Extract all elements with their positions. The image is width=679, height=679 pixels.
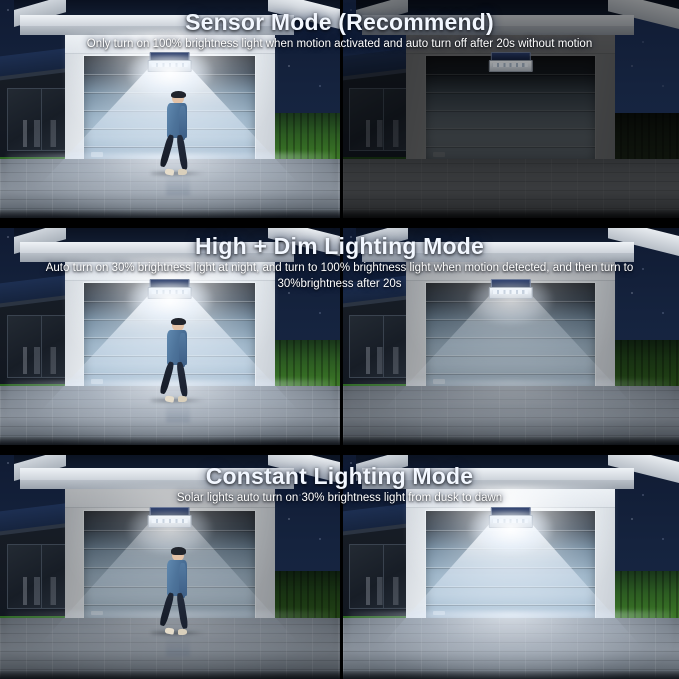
solar-light-fixture [149, 279, 190, 299]
roof-soffit [362, 253, 633, 262]
roof-overhang [14, 227, 340, 262]
person-back-shoe [165, 168, 174, 175]
garage-door-handle [91, 152, 103, 156]
led-array-icon [152, 63, 187, 67]
driveway [343, 386, 679, 445]
roof-soffit [20, 253, 294, 262]
person-hair [171, 91, 186, 98]
person-back-shoe [165, 627, 174, 634]
solar-panel-icon [149, 279, 190, 287]
person-reflection [166, 401, 190, 423]
roof-overhang [14, 0, 340, 35]
row-divider [0, 218, 679, 228]
scene-sensor-off [340, 0, 679, 218]
garage-door-handle [433, 379, 445, 383]
led-housing [489, 60, 533, 72]
driveway-edge [0, 437, 340, 445]
led-array-icon [152, 519, 187, 523]
person-hair [171, 318, 186, 325]
led-array-icon [493, 290, 528, 294]
solar-panel-icon [491, 279, 531, 287]
mode-section-sensor: Sensor Mode (Recommend) Only turn on 100… [0, 0, 679, 218]
garage-door-handle [91, 379, 103, 383]
scene-constant-empty [340, 453, 679, 679]
driveway-edge [0, 671, 340, 679]
led-array-icon [493, 519, 528, 523]
solar-light-fixture [149, 507, 190, 527]
roof-soffit [362, 26, 633, 35]
roof-overhang [356, 0, 679, 35]
paver-pattern [343, 618, 679, 679]
roof-soffit [362, 480, 633, 489]
roof-fascia [20, 468, 294, 480]
roof-soffit [20, 26, 294, 35]
scene-dim-standby [340, 227, 679, 445]
mode-section-high-dim: High + Dim Lighting Mode Auto turn on 30… [0, 227, 679, 445]
led-housing [148, 60, 192, 72]
roof-soffit [20, 480, 294, 489]
solar-panel-icon [491, 52, 531, 60]
solar-light-fixture [491, 507, 531, 527]
roof-overhang [14, 453, 340, 489]
walking-person [163, 548, 194, 634]
driveway-edge [343, 437, 679, 445]
paver-pattern [343, 386, 679, 445]
solar-light-fixture [491, 52, 531, 72]
roof-fascia [362, 15, 633, 27]
solar-panel-icon [149, 52, 190, 60]
roof-fascia [362, 468, 633, 480]
infographic-board: Sensor Mode (Recommend) Only turn on 100… [0, 0, 679, 679]
row-divider [0, 445, 679, 455]
roof-fascia [20, 15, 294, 27]
led-housing [489, 287, 533, 299]
led-housing [148, 515, 192, 528]
person-hair [171, 547, 186, 555]
solar-light-fixture [491, 279, 531, 299]
driveway [343, 159, 679, 218]
scene-high-on [0, 227, 340, 445]
mode-section-constant: Constant Lighting Mode Solar lights auto… [0, 453, 679, 679]
roof-overhang [356, 453, 679, 489]
person-reflection [166, 634, 190, 656]
led-housing [489, 515, 533, 528]
garage-door-handle [91, 611, 103, 615]
roof-fascia [362, 242, 633, 254]
led-array-icon [493, 63, 528, 67]
scene-pair [0, 227, 679, 445]
garage-door-handle [433, 152, 445, 156]
garage-facade [406, 485, 615, 625]
scene-constant-with-person [0, 453, 340, 679]
scene-pair [0, 0, 679, 218]
garage-facade [406, 31, 615, 166]
scene-pair [0, 453, 679, 679]
scene-sensor-on [0, 0, 340, 218]
walking-person [163, 92, 194, 175]
person-reflection [166, 174, 190, 196]
solar-light-fixture [149, 52, 190, 72]
roof-fascia [20, 242, 294, 254]
person-front-leg [176, 361, 189, 396]
person-front-leg [176, 592, 189, 629]
driveway-edge [343, 671, 679, 679]
person-front-leg [176, 134, 189, 169]
person-front-shoe [178, 629, 188, 635]
walking-person [163, 319, 194, 402]
driveway-edge [0, 210, 340, 218]
led-housing [148, 287, 192, 299]
person-back-shoe [165, 395, 174, 402]
garage-door-handle [433, 611, 445, 615]
garage-facade [406, 258, 615, 393]
driveway [343, 618, 679, 679]
led-array-icon [152, 290, 187, 294]
roof-overhang [356, 227, 679, 262]
driveway-edge [343, 210, 679, 218]
paver-pattern [343, 159, 679, 218]
